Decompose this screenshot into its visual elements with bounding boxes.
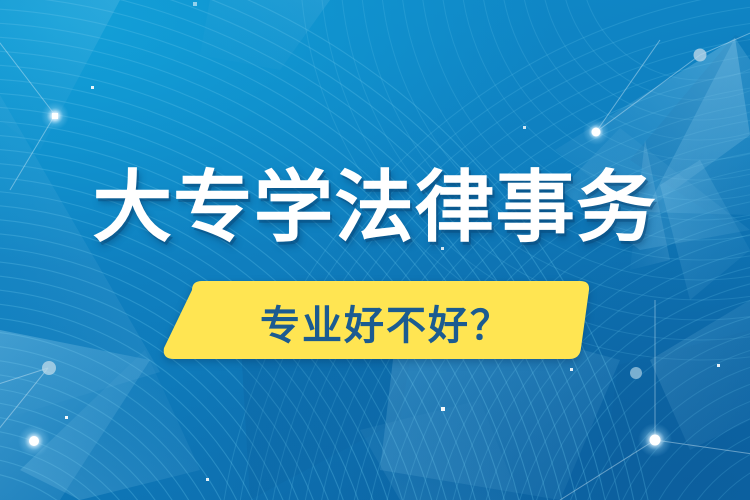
subtitle-text: 专业好不好？: [160, 280, 590, 364]
polygon-shapes: [0, 0, 750, 500]
decor-group: [0, 0, 750, 500]
background-decoration: [0, 0, 750, 500]
promo-banner: 大专学法律事务 专业好不好？: [0, 0, 750, 500]
subtitle-ribbon: 专业好不好？: [160, 278, 590, 362]
